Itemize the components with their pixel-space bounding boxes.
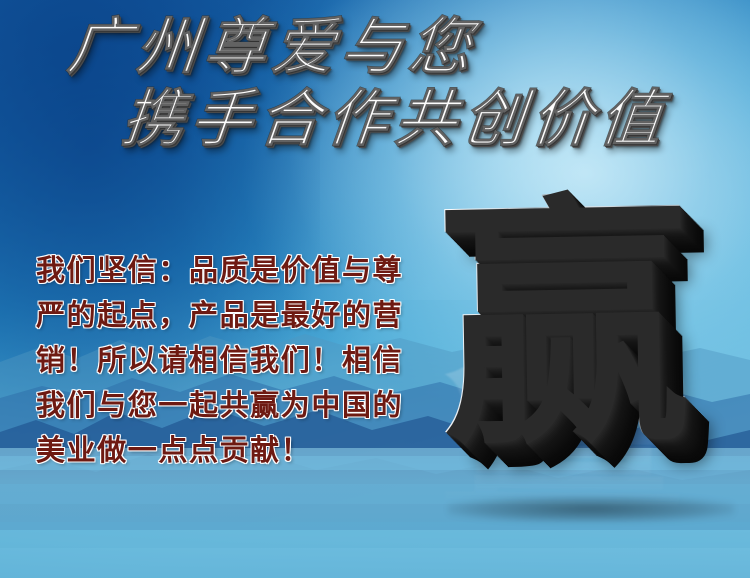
background-gradient	[0, 0, 750, 578]
promotional-banner: 赢 赢 广州尊爱与您 携手合作共创价值 我们坚信：品质是价值与尊 严的起点，产品…	[0, 0, 750, 578]
